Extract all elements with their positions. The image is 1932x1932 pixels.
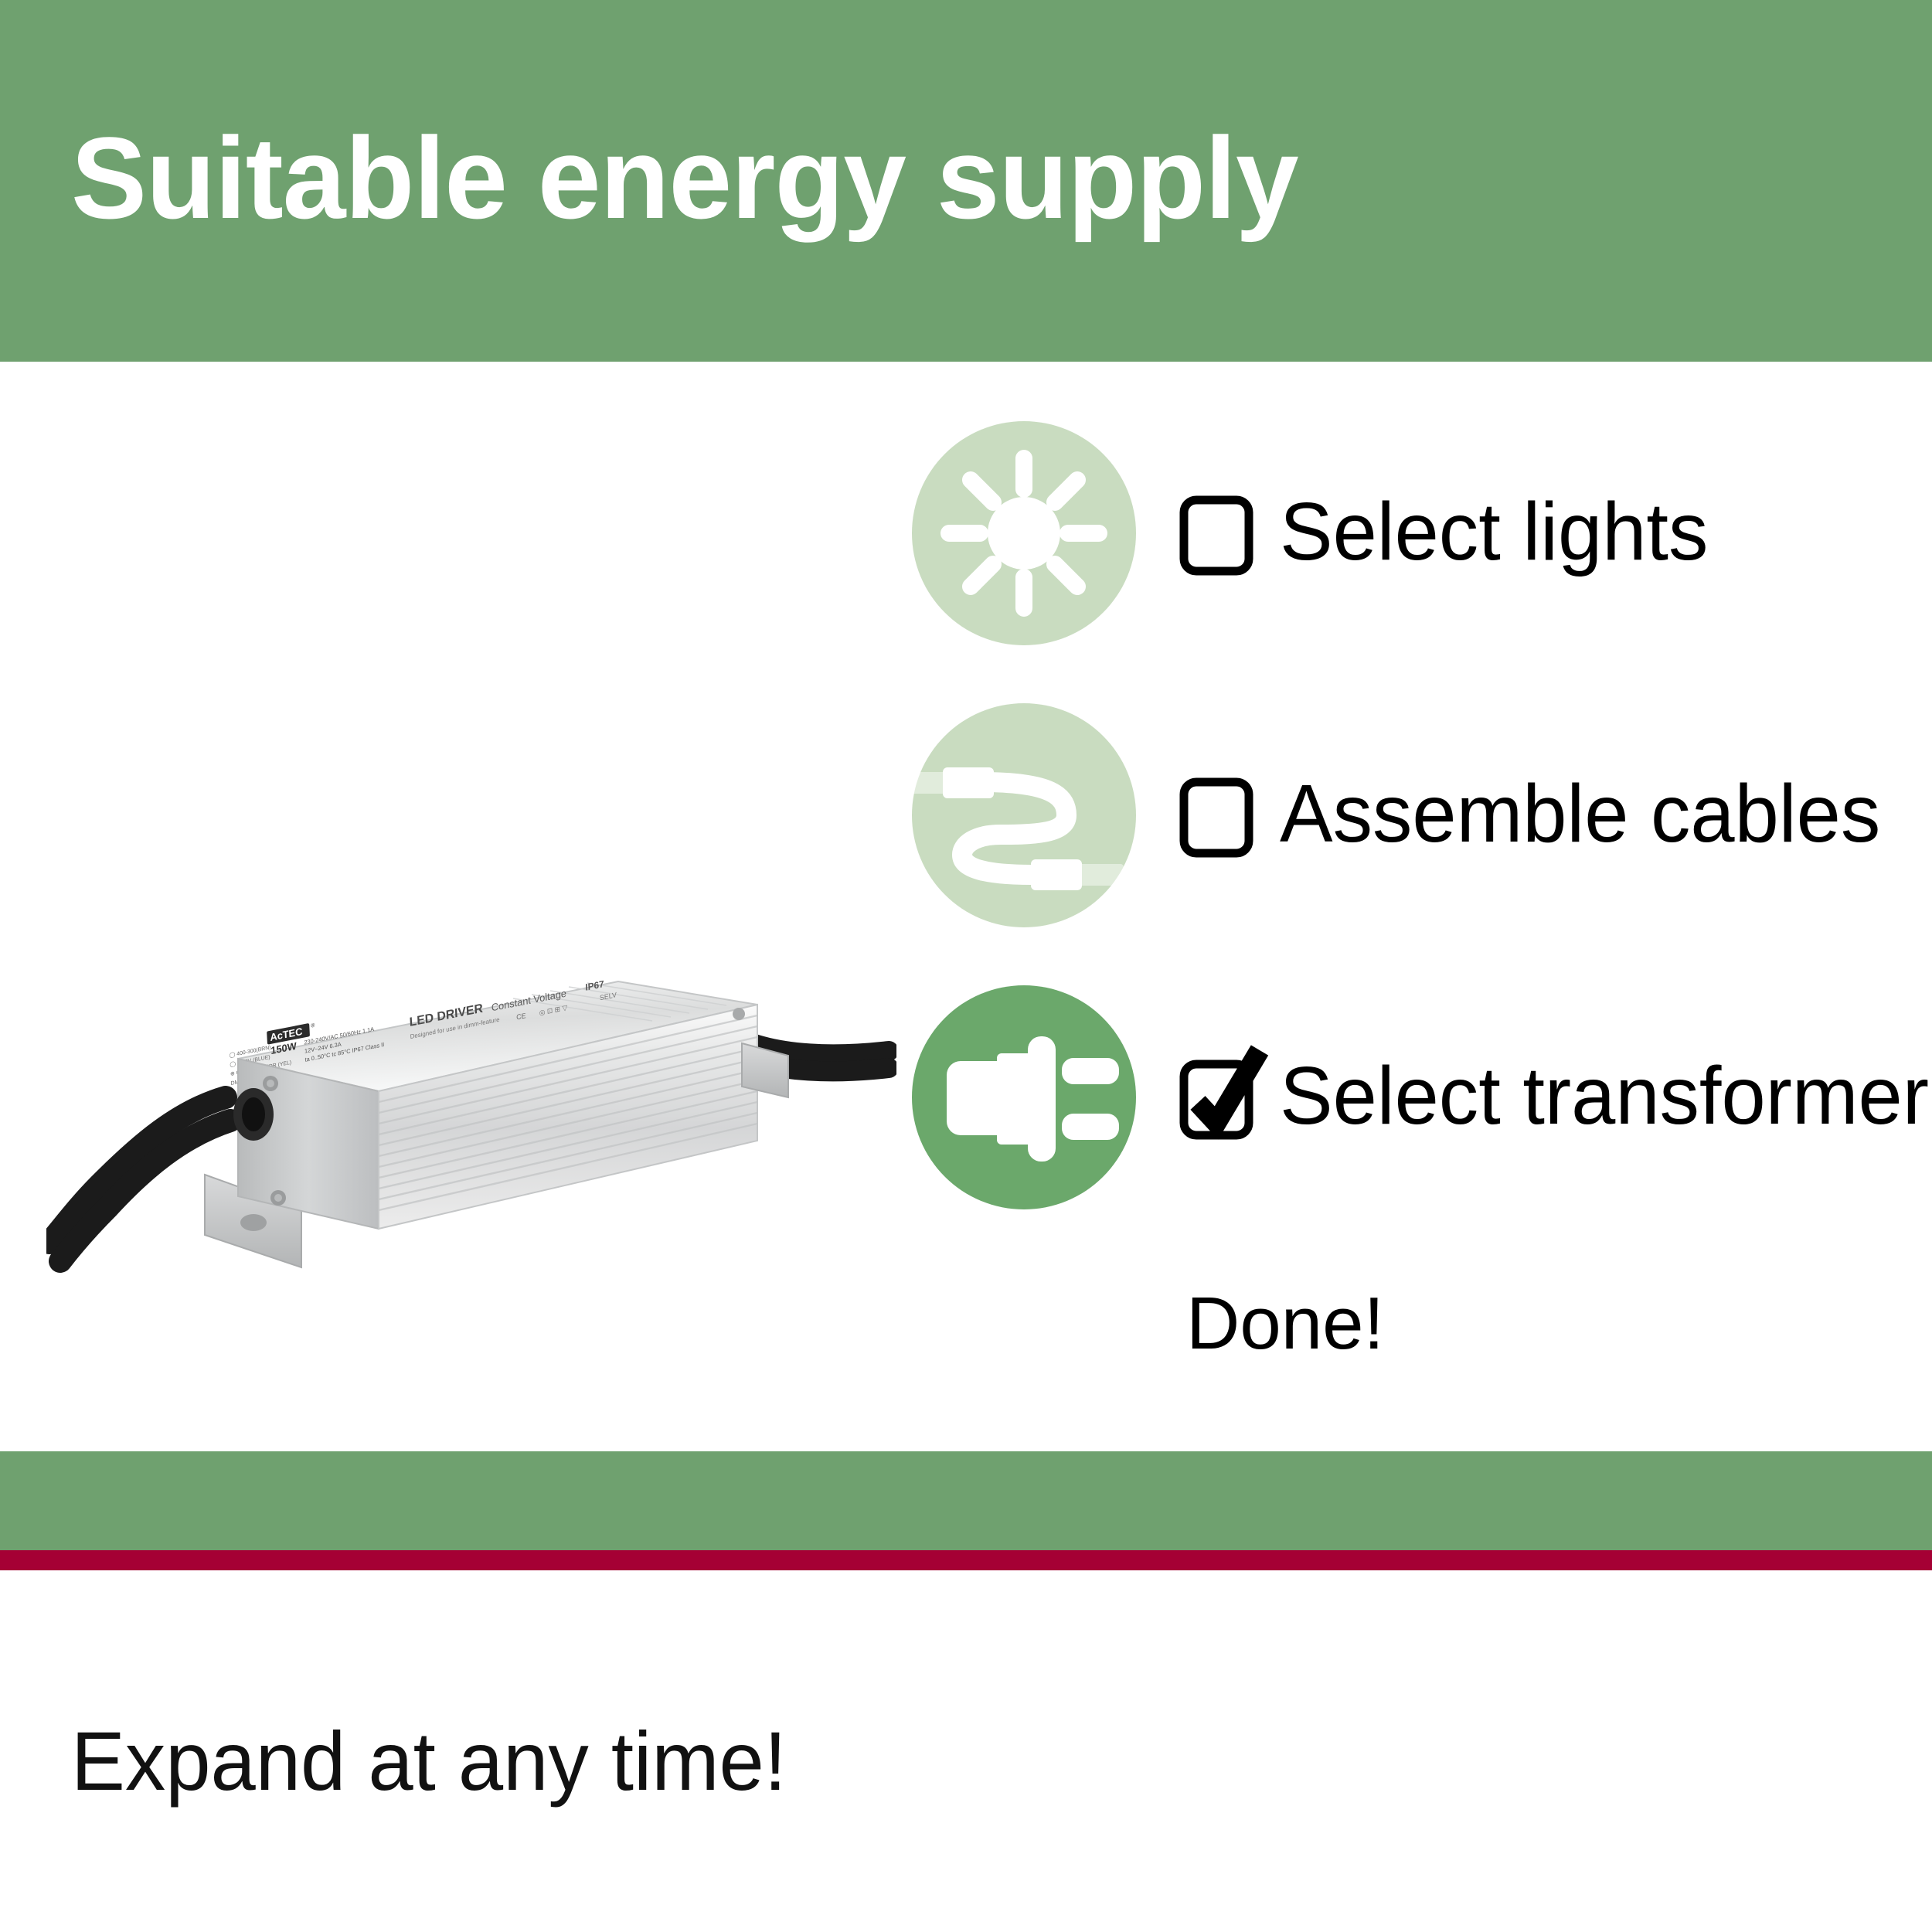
setup-checklist: Select lights bbox=[912, 421, 1886, 1267]
plug-icon bbox=[889, 962, 1159, 1233]
page-title: Suitable energy supply bbox=[71, 116, 1298, 240]
icon-circle-cable bbox=[912, 703, 1136, 927]
icon-circle-plug bbox=[912, 985, 1136, 1209]
footer-tagline: Expand at any time! bbox=[71, 1717, 787, 1805]
checklist-item-label: Select lights bbox=[1280, 492, 1708, 571]
checklist-label-wrap[interactable]: Assemble cables bbox=[1182, 774, 1899, 853]
checklist-item-label: Assemble cables bbox=[1280, 774, 1880, 853]
checkbox-assemble-cables[interactable] bbox=[1182, 781, 1243, 847]
cable-icon bbox=[889, 680, 1159, 951]
status-done-text: Done! bbox=[1186, 1285, 1384, 1362]
checklist-item-label: Select transformer bbox=[1280, 1056, 1929, 1135]
cable-left bbox=[49, 1097, 230, 1261]
checklist-row-select-transformer[interactable]: Select transformer bbox=[912, 985, 1886, 1209]
sun-icon bbox=[889, 398, 1159, 668]
checklist-label-wrap[interactable]: Select lights bbox=[1182, 492, 1722, 571]
svg-text:®: ® bbox=[311, 1022, 315, 1029]
product-image-led-driver: LED DRIVER Constant Voltage IP67 Designe… bbox=[46, 866, 896, 1298]
checkbox-select-lights[interactable] bbox=[1182, 498, 1243, 565]
icon-circle-sun bbox=[912, 421, 1136, 645]
footer-crimson-bar bbox=[0, 1550, 1932, 1570]
footer-green-bar bbox=[0, 1451, 1932, 1550]
checklist-label-wrap[interactable]: Select transformer bbox=[1182, 1056, 1932, 1135]
checklist-row-assemble-cables[interactable]: Assemble cables bbox=[912, 703, 1886, 927]
checklist-row-select-lights[interactable]: Select lights bbox=[912, 421, 1886, 645]
checkbox-select-transformer[interactable] bbox=[1182, 1063, 1243, 1129]
